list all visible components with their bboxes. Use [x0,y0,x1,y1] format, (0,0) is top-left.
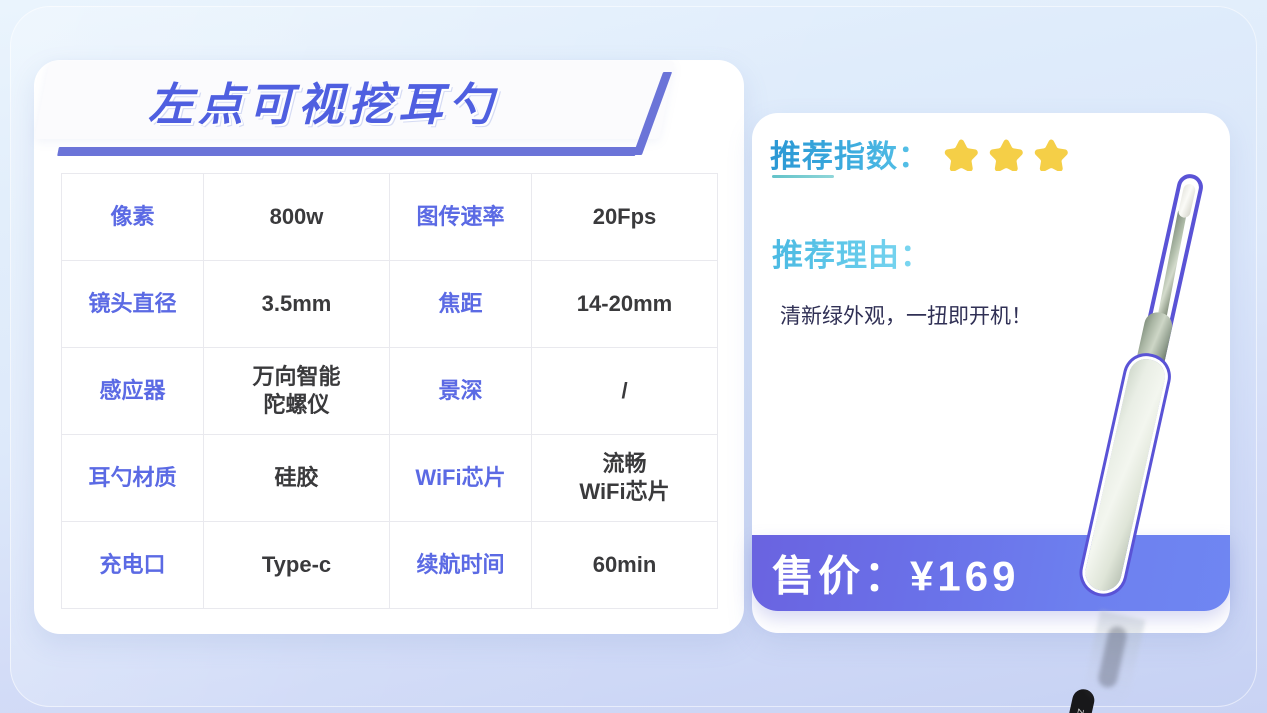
device-brand-text: zdeer [1069,707,1088,713]
spec-table-body: 像素 800w 图传速率 20Fps 镜头直径 3.5mm 焦距 14-20mm… [62,174,718,609]
spec-label: 耳勺材质 [62,435,204,522]
table-row: 像素 800w 图传速率 20Fps [62,174,718,261]
table-row: 镜头直径 3.5mm 焦距 14-20mm [62,261,718,348]
poster-root: 左点可视挖耳勺 像素 800w 图传速率 20Fps 镜头直径 3.5mm 焦距… [0,0,1267,713]
spec-value: 60min [532,522,718,609]
spec-label: 焦距 [390,261,532,348]
spec-value: 14-20mm [532,261,718,348]
spec-label: 续航时间 [390,522,532,609]
spec-value: / [532,348,718,435]
spec-label: 图传速率 [390,174,532,261]
title-underline-bar [57,147,637,156]
star-icon [944,137,978,171]
spec-label: 感应器 [62,348,204,435]
star-rating [944,137,1068,171]
star-icon [1034,137,1068,171]
table-row: 耳勺材质 硅胶 WiFi芯片 流畅WiFi芯片 [62,435,718,522]
price-banner: 售价：¥169 [752,535,1230,611]
recommendation-index-underline [772,175,834,178]
spec-value: 800w [204,174,390,261]
spec-value: 万向智能陀螺仪 [204,348,390,435]
price-label: 售价：¥169 [772,543,1019,604]
spec-label: WiFi芯片 [390,435,532,522]
spec-value: 硅胶 [204,435,390,522]
spec-label: 景深 [390,348,532,435]
recommendation-index-label: 推荐指数： [770,131,930,176]
spec-label: 镜头直径 [62,261,204,348]
spec-table: 像素 800w 图传速率 20Fps 镜头直径 3.5mm 焦距 14-20mm… [61,173,718,609]
spec-value: Type-c [204,522,390,609]
spec-value: 3.5mm [204,261,390,348]
spec-label: 像素 [62,174,204,261]
spec-value: 流畅WiFi芯片 [532,435,718,522]
recommendation-index-row: 推荐指数： [770,131,1068,176]
recommendation-reason-text: 清新绿外观，一扭即开机！ [780,298,1042,336]
page-title: 左点可视挖耳勺 [148,74,608,136]
star-icon [989,137,1023,171]
spec-value: 20Fps [532,174,718,261]
recommendation-reason-label: 推荐理由： [772,230,932,275]
spec-label: 充电口 [62,522,204,609]
table-row: 充电口 Type-c 续航时间 60min [62,522,718,609]
table-row: 感应器 万向智能陀螺仪 景深 / [62,348,718,435]
